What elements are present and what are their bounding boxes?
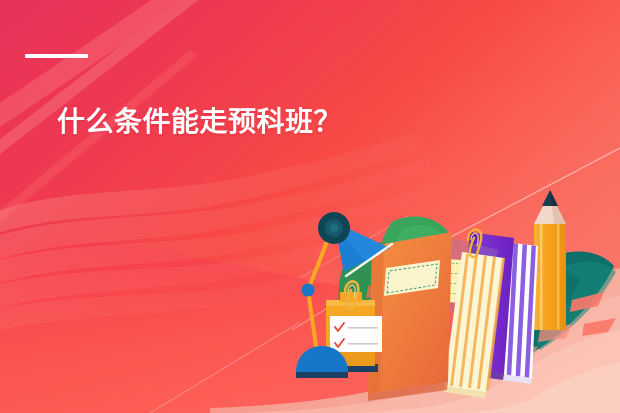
lamp-joint: [302, 284, 315, 297]
study-desk-illustration: [0, 0, 620, 413]
lamp-arm-upper: [308, 234, 330, 290]
pencil: [534, 190, 566, 330]
banner-card: 什么条件能走预科班？: [0, 0, 620, 413]
checklist-paper: [330, 316, 382, 352]
